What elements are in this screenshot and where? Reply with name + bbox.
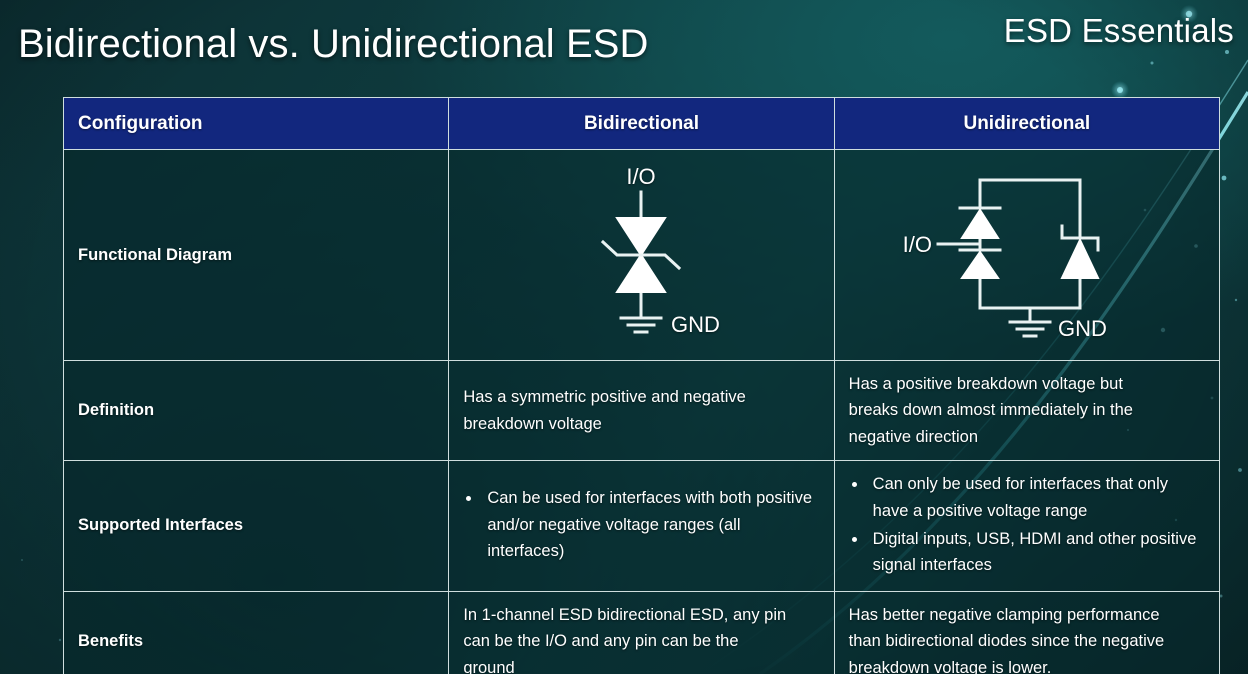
gnd-label: GND	[1058, 316, 1107, 341]
upper-diode-triangle-icon	[617, 218, 665, 255]
text-line: Has a symmetric positive and negative	[463, 384, 819, 410]
table-row: Definition Has a symmetric positive and …	[64, 361, 1220, 461]
text-line: Has a positive breakdown voltage but	[849, 371, 1205, 397]
row-label-benefits: Benefits	[64, 591, 449, 674]
cell-bidirectional-benefits: In 1-channel ESD bidirectional ESD, any …	[449, 591, 834, 674]
column-header-unidirectional: Unidirectional	[834, 98, 1219, 150]
bullet-list: Can only be used for interfaces that onl…	[849, 471, 1205, 579]
text-line: breakdown voltage is lower.	[849, 655, 1205, 674]
cell-bidirectional-supported-interfaces: Can be used for interfaces with both pos…	[449, 461, 834, 592]
steering-diode-lower-icon	[962, 252, 998, 278]
lower-diode-triangle-icon	[617, 255, 665, 292]
list-item: Can be used for interfaces with both pos…	[463, 485, 819, 564]
table-row: Benefits In 1-channel ESD bidirectional …	[64, 591, 1220, 674]
text-line: can be the I/O and any pin can be the	[463, 628, 819, 654]
cell-bidirectional-definition: Has a symmetric positive and negative br…	[449, 361, 834, 461]
cell-unidirectional-definition: Has a positive breakdown voltage but bre…	[834, 361, 1219, 461]
list-item: Digital inputs, USB, HDMI and other posi…	[849, 526, 1205, 579]
column-header-bidirectional: Bidirectional	[449, 98, 834, 150]
row-label-functional-diagram: Functional Diagram	[64, 150, 449, 361]
slide-canvas: Bidirectional vs. Unidirectional ESD ESD…	[0, 0, 1248, 674]
table-row: Supported Interfaces Can be used for int…	[64, 461, 1220, 592]
steering-diode-upper-icon	[962, 210, 998, 238]
table-header: Configuration Bidirectional Unidirection…	[64, 98, 1220, 150]
bullet-list: Can be used for interfaces with both pos…	[463, 485, 819, 564]
text-line: Has better negative clamping performance	[849, 602, 1205, 628]
list-item: Can only be used for interfaces that onl…	[849, 471, 1205, 524]
series-kicker-label: ESD Essentials	[1004, 12, 1234, 50]
row-label-definition: Definition	[64, 361, 449, 461]
table-row: Functional Diagram	[64, 150, 1220, 361]
bidirectional-tvs-diode-schematic: I/O GND	[541, 160, 741, 350]
text-line: than bidirectional diodes since the nega…	[849, 628, 1205, 654]
table-header-row: Configuration Bidirectional Unidirection…	[64, 98, 1220, 150]
comparison-table: Configuration Bidirectional Unidirection…	[63, 97, 1220, 674]
io-label: I/O	[627, 164, 656, 189]
comparison-table-wrapper: Configuration Bidirectional Unidirection…	[63, 97, 1220, 665]
cell-bidirectional-functional-diagram: I/O GND	[449, 150, 834, 361]
text-line: breakdown voltage	[463, 411, 819, 437]
io-label: I/O	[902, 232, 931, 257]
text-line: negative direction	[849, 424, 1205, 450]
cell-unidirectional-supported-interfaces: Can only be used for interfaces that onl…	[834, 461, 1219, 592]
page-title: Bidirectional vs. Unidirectional ESD	[18, 22, 649, 67]
cell-unidirectional-functional-diagram: I/O GND	[834, 150, 1219, 361]
zener-diode-triangle-icon	[1062, 240, 1098, 278]
text-line: breaks down almost immediately in the	[849, 397, 1205, 423]
column-header-configuration: Configuration	[64, 98, 449, 150]
unidirectional-steering-diode-bridge-schematic: I/O GND	[902, 160, 1152, 350]
text-line: ground	[463, 655, 819, 674]
table-body: Functional Diagram	[64, 150, 1220, 674]
cell-unidirectional-benefits: Has better negative clamping performance…	[834, 591, 1219, 674]
row-label-supported-interfaces: Supported Interfaces	[64, 461, 449, 592]
gnd-label: GND	[671, 312, 720, 337]
text-line: In 1-channel ESD bidirectional ESD, any …	[463, 602, 819, 628]
